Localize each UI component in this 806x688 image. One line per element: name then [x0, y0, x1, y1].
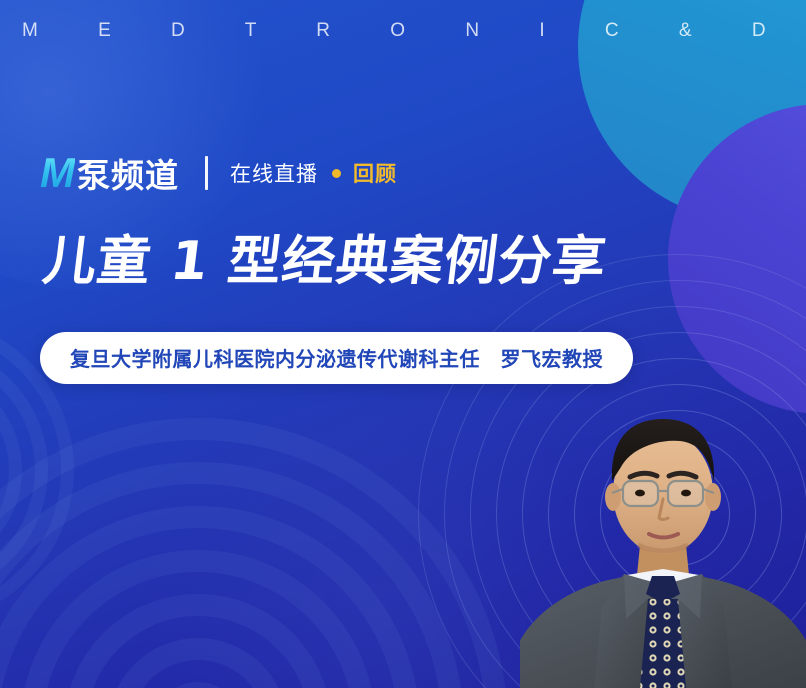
speaker-pill-label: 复旦大学附属儿科医院内分泌遗传代谢科主任 罗飞宏教授	[70, 343, 603, 372]
header-marquee-text: M E D T R O N I C & D R . A N T	[22, 20, 806, 42]
banner-content: M 泵频道 在线直播 回顾 儿童 1 型经典案例分享 复旦大学附属儿科医院内分泌…	[40, 150, 680, 384]
brand-row: M 泵频道 在线直播 回顾	[40, 150, 680, 196]
page-title: 儿童 1 型经典案例分享	[40, 234, 687, 290]
live-label: 在线直播	[230, 158, 318, 188]
live-status-row: 在线直播 回顾	[230, 158, 397, 188]
brand-logo-mark-icon: M	[40, 152, 75, 194]
brand-logo: M 泵频道	[40, 152, 179, 194]
speaker-pill: 复旦大学附属儿科医院内分泌遗传代谢科主任 罗飞宏教授	[40, 332, 633, 384]
bullet-dot-icon	[332, 169, 341, 178]
webinar-banner: M E D T R O N I C & D R . A N T M 泵频道 在线…	[0, 0, 806, 688]
brand-logo-word: 泵频道	[77, 159, 179, 192]
vertical-divider	[205, 156, 208, 190]
live-state-badge: 回顾	[353, 158, 397, 188]
speaker-portrait-illustration	[520, 385, 806, 688]
speaker-portrait	[520, 385, 806, 688]
header-marquee: M E D T R O N I C & D R . A N T	[0, 0, 806, 62]
